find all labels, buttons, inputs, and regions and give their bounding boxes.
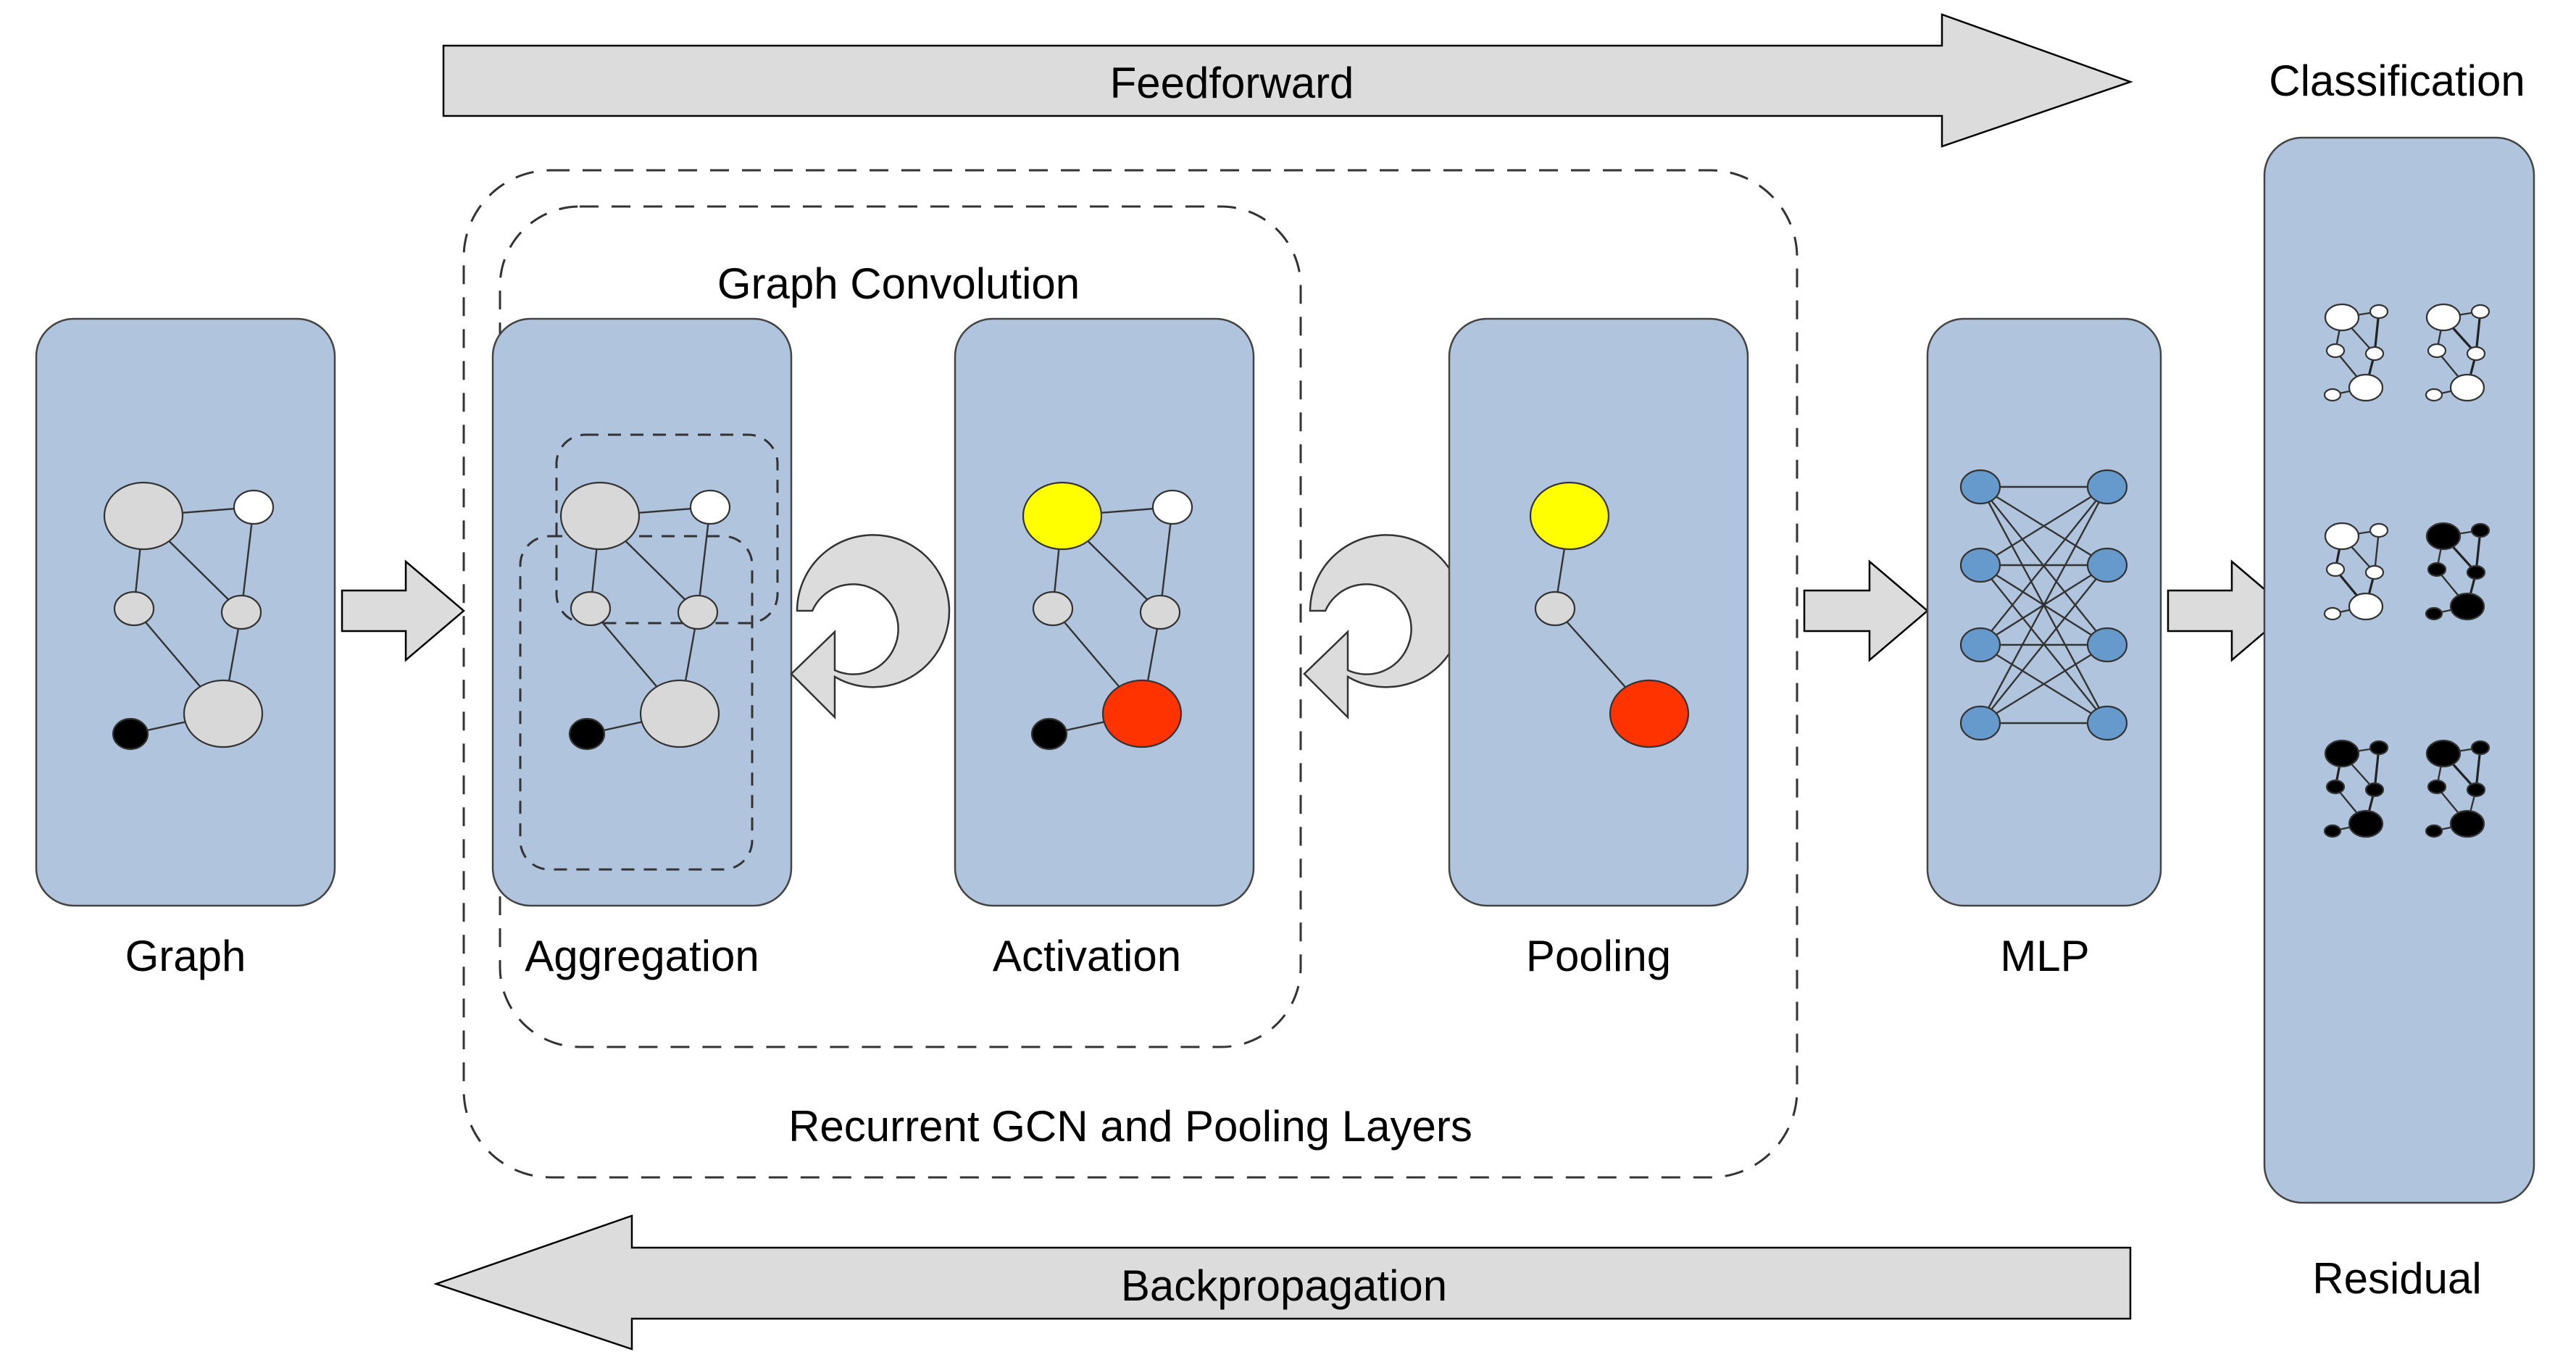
panel-graph[interactable] <box>36 319 335 906</box>
panel-label-classification: Classification <box>2269 59 2525 103</box>
panel-label-aggregation: Aggregation <box>525 935 759 978</box>
panel-label-graph: Graph <box>125 935 246 978</box>
recurrent-group-label: Recurrent GCN and Pooling Layers <box>788 1105 1472 1148</box>
panel-activation[interactable] <box>955 319 1254 906</box>
panel-pooling[interactable] <box>1449 319 1748 906</box>
diagram-root: .panel{fill:#b0c4de;stroke:#444;stroke-w… <box>0 0 2576 1352</box>
recurrent-loop-icon-2 <box>1304 535 1462 717</box>
recurrent-loop-icon-1 <box>791 535 949 717</box>
panel-classification[interactable] <box>2264 138 2534 1203</box>
graph-convolution-group-label: Graph Convolution <box>717 262 1080 306</box>
feedforward-arrow-label: Feedforward <box>1110 62 1354 105</box>
panel-mlp[interactable] <box>1927 319 2161 906</box>
arrow-pooling-to-mlp <box>1804 562 1927 660</box>
panel-label-activation: Activation <box>993 935 1181 978</box>
panel-label-pooling: Pooling <box>1526 935 1671 978</box>
panel-label-residual: Residual <box>2312 1257 2481 1301</box>
panel-label-mlp: MLP <box>2000 935 2089 978</box>
arrow-graph-to-aggregation <box>342 562 464 660</box>
panel-aggregation[interactable] <box>493 319 791 906</box>
backpropagation-arrow-label: Backpropagation <box>1121 1264 1447 1308</box>
